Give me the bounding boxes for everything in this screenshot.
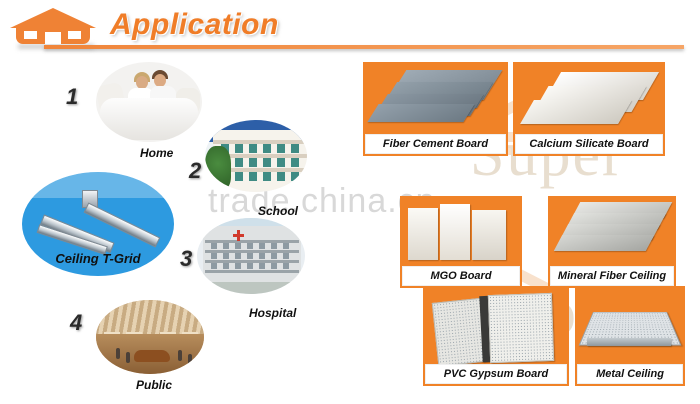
- application-number-4: 4: [70, 310, 82, 336]
- school-building-photo: [205, 120, 307, 192]
- red-cross-icon: [233, 230, 244, 241]
- product-card-mineral-fiber-ceiling[interactable]: Mineral Fiber Ceiling: [548, 196, 676, 288]
- public-mall-interior-photo: [96, 300, 204, 374]
- product-label: Fiber Cement Board: [365, 134, 506, 154]
- product-label: Mineral Fiber Ceiling: [550, 266, 674, 286]
- title-divider: [44, 45, 684, 49]
- application-number-2: 2: [189, 158, 201, 184]
- application-label-hospital: Hospital: [249, 306, 296, 320]
- banner-header: Application: [0, 0, 700, 52]
- product-label: MGO Board: [402, 266, 520, 286]
- page-title: Application: [110, 8, 279, 42]
- product-card-mgo-board[interactable]: MGO Board: [400, 196, 522, 288]
- application-label-school: School: [258, 204, 298, 218]
- product-card-calcium-silicate-board[interactable]: Calcium Silicate Board: [513, 62, 665, 156]
- home-living-room-photo: [96, 62, 202, 142]
- ceiling-t-grid-label: Ceiling T-Grid: [22, 251, 174, 266]
- application-label-home: Home: [140, 146, 173, 160]
- house-roof-logo-icon: [10, 8, 96, 44]
- ceiling-t-grid-photo: Ceiling T-Grid: [22, 172, 174, 276]
- application-number-3: 3: [180, 246, 192, 272]
- product-label: Metal Ceiling: [577, 364, 683, 384]
- application-label-public: Public: [136, 378, 172, 392]
- product-label: Calcium Silicate Board: [515, 134, 663, 154]
- product-card-metal-ceiling[interactable]: Metal Ceiling: [575, 286, 685, 386]
- product-card-pvc-gypsum-board[interactable]: PVC Gypsum Board: [423, 286, 569, 386]
- application-banner: Super uper trade.china.cn Application 1: [0, 0, 700, 404]
- product-label: PVC Gypsum Board: [425, 364, 567, 384]
- application-number-1: 1: [66, 84, 78, 110]
- hospital-building-photo: [197, 218, 305, 294]
- product-card-fiber-cement-board[interactable]: Fiber Cement Board: [363, 62, 508, 156]
